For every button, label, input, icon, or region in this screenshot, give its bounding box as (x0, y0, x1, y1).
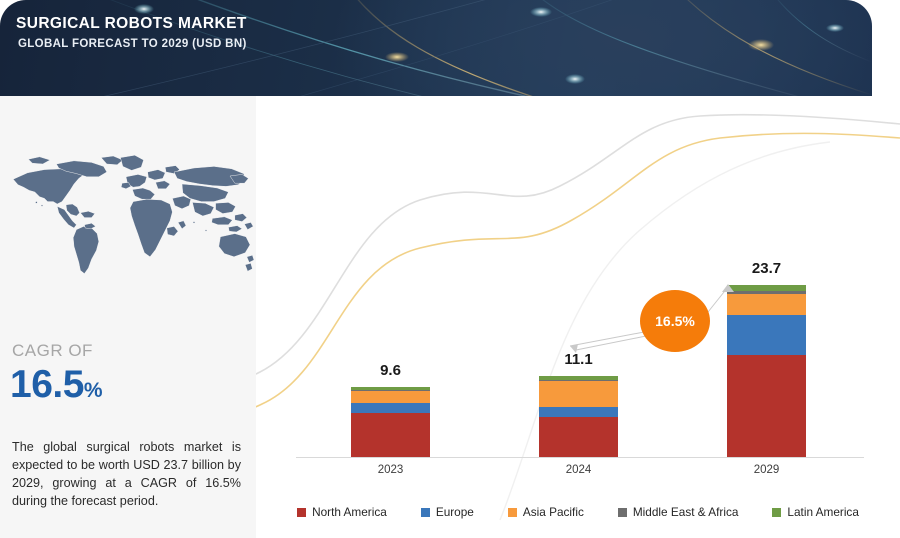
cagr-number: 16.5 (10, 363, 84, 406)
plot-area: 9.6202311.1202423.72029 16.5% (256, 96, 900, 538)
cagr-value: 16.5% (10, 364, 103, 412)
chart-container: 9.6202311.1202423.72029 16.5% (256, 96, 900, 538)
callout-connector-lines (256, 96, 900, 538)
world-map-graphic (6, 121, 254, 311)
cagr-label: CAGR OF (12, 341, 93, 361)
infographic-canvas: SURGICAL ROBOTS MARKET GLOBAL FORECAST T… (0, 0, 900, 538)
header-text-block: SURGICAL ROBOTS MARKET GLOBAL FORECAST T… (14, 14, 247, 51)
cagr-percent-symbol: % (84, 379, 103, 402)
page-title: SURGICAL ROBOTS MARKET (16, 14, 247, 33)
page-subtitle: GLOBAL FORECAST TO 2029 (USD BN) (18, 37, 247, 51)
cagr-callout-bubble: 16.5% (640, 290, 710, 352)
header-banner: SURGICAL ROBOTS MARKET GLOBAL FORECAST T… (0, 0, 872, 96)
left-summary-panel: CAGR OF 16.5% The global surgical robots… (0, 96, 256, 538)
cagr-callout-label: 16.5% (655, 313, 695, 329)
world-map-icon (6, 121, 254, 311)
summary-description: The global surgical robots market is exp… (12, 438, 241, 510)
